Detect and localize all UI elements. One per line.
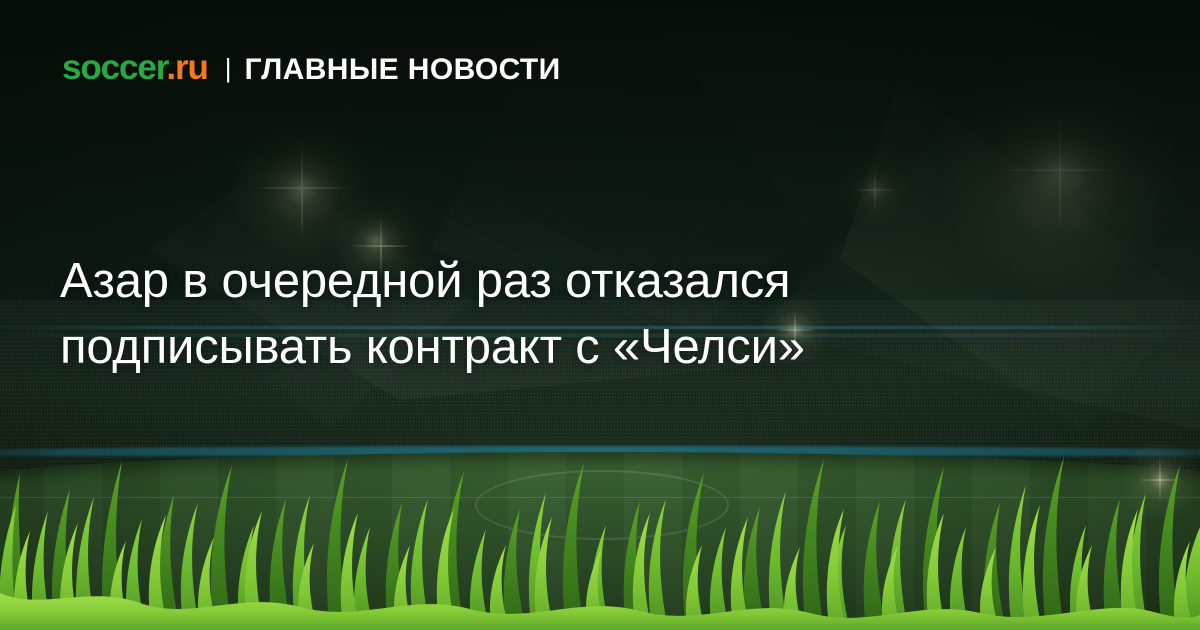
soccer-ru-logo[interactable]: soccer.ru <box>62 50 208 85</box>
logo-word-ru: .ru <box>166 48 207 87</box>
foreground-grass <box>0 415 1200 630</box>
news-cover-card: soccer.ru | ГЛАВНЫЕ НОВОСТИ Азар в очере… <box>0 0 1200 630</box>
brand-bar: soccer.ru | ГЛАВНЫЕ НОВОСТИ <box>62 50 561 85</box>
article-headline: Азар в очередной раз отказался подписыва… <box>60 248 1070 380</box>
logo-word-soccer: soccer <box>62 48 166 87</box>
section-kicker: ГЛАВНЫЕ НОВОСТИ <box>245 55 561 85</box>
brand-separator: | <box>225 55 232 81</box>
